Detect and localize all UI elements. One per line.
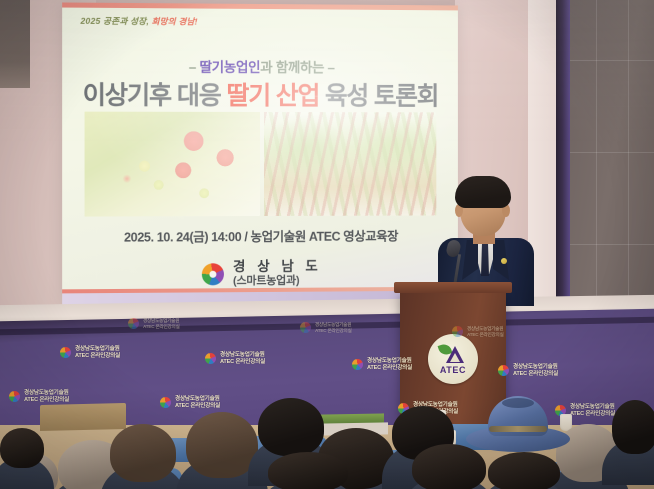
gyeongnam-pinwheel-logo-icon — [60, 347, 71, 358]
side-table-left — [40, 403, 126, 431]
gyeongnam-pinwheel-logo-icon — [300, 322, 311, 333]
audience-head-6 — [258, 398, 324, 456]
banner-logo-text: 경상남도농업기술원ATEC 온라인강의실 — [570, 404, 615, 418]
atec-logo-icon: ATEC — [428, 334, 478, 384]
gyeongnam-pinwheel-logo-icon — [498, 365, 509, 376]
slogan-year: 2025 — [80, 16, 103, 26]
banner-text-line2: ATEC 온라인강의실 — [315, 328, 352, 334]
audience-head-13 — [488, 452, 560, 489]
speaker-lapel-pin — [501, 258, 507, 264]
ceiling-beam — [0, 0, 30, 88]
banner-text-line1: 경상남도농업기술원 — [367, 358, 412, 365]
podium-top-ledge — [394, 282, 512, 293]
gyeongnam-pinwheel-logo-icon — [205, 353, 216, 364]
speaker-hair — [455, 176, 511, 208]
banner-logo-text: 경상남도농업기술원ATEC 온라인강의실 — [315, 322, 352, 333]
banner-logo-9: 경상남도농업기술원ATEC 온라인강의실 — [160, 396, 220, 410]
strawberry-greenhouse-photo — [264, 112, 436, 216]
banner-logo-4: 경상남도농업기술원ATEC 온라인강의실 — [498, 364, 558, 378]
banner-logo-text: 경상남도농업기술원ATEC 온라인강의실 — [143, 318, 180, 329]
speaker-necktie — [481, 244, 489, 276]
banner-text-line2: ATEC 온라인강의실 — [570, 411, 615, 418]
banner-logo-1: 경상남도농업기술원ATEC 온라인강의실 — [60, 346, 120, 360]
banner-text-line2: ATEC 온라인강의실 — [220, 359, 265, 366]
gyeongnam-pinwheel-logo-icon — [452, 326, 463, 337]
gyeongnam-pinwheel-logo-icon — [128, 318, 139, 329]
banner-logo-3: 경상남도농업기술원ATEC 온라인강의실 — [352, 358, 412, 372]
subtitle-highlight: 딸기농업인 — [200, 60, 261, 75]
title-accent: 딸기 산업 — [226, 82, 319, 110]
banner-logo-2: 경상남도농업기술원ATEC 온라인강의실 — [205, 352, 265, 366]
title-part-2: 육성 토론회 — [319, 82, 438, 110]
audience-head-5 — [186, 412, 258, 478]
banner-text-line1: 경상남도농업기술원 — [570, 404, 615, 411]
acoustic-panel-wall — [570, 0, 654, 330]
gyeongnam-pinwheel-logo-icon — [9, 391, 20, 402]
subtitle-dash-right: – — [328, 60, 335, 75]
slide-photo-row — [85, 112, 437, 217]
banner-text-line1: 경상남도농업기술원 — [24, 390, 69, 397]
banner-text-line1: 경상남도농업기술원 — [513, 364, 558, 371]
atec-logo-text: ATEC — [440, 365, 466, 375]
screen-top-border — [62, 2, 458, 10]
banner-text-line1: 경상남도농업기술원 — [75, 346, 120, 353]
slide-subtitle: – 딸기농업인과 함께하는 – — [62, 55, 458, 77]
banner-logo-text: 경상남도농업기술원ATEC 온라인강의실 — [513, 364, 558, 378]
audience-fedora-hat — [466, 396, 570, 452]
slide-slogan: 2025 공존과 성장, 희망의 경남! — [80, 15, 197, 28]
banner-text-line2: ATEC 온라인강의실 — [75, 353, 120, 360]
banner-logo-text: 경상남도농업기술원ATEC 온라인강의실 — [175, 396, 220, 410]
audience-head-3 — [0, 428, 44, 468]
banner-logo-8: 경상남도농업기술원ATEC 온라인강의실 — [9, 390, 69, 404]
banner-logo-text: 경상남도농업기술원ATEC 온라인강의실 — [367, 358, 412, 372]
slide-datetime-venue: 2025. 10. 24(금) 14:00 / 농업기술원 ATEC 영상교육장 — [62, 225, 458, 246]
audience-head-9 — [268, 452, 348, 489]
atec-mark — [439, 344, 467, 364]
banner-text-line1: 경상남도농업기술원 — [143, 318, 180, 324]
subtitle-dash-left: – — [189, 60, 196, 75]
purple-wall-strip — [556, 0, 570, 330]
gyeongnam-pinwheel-logo-icon — [202, 264, 224, 286]
organization-name: 경 상 남 도 — [233, 260, 322, 275]
photo-scene: 2025 공존과 성장, 희망의 경남! – 딸기농업인과 함께하는 – 이상기… — [0, 0, 654, 489]
strawberry-closeup-photo — [85, 112, 260, 217]
banner-text-line2: ATEC 온라인강의실 — [143, 324, 180, 330]
organization-department: (스마트농업과) — [233, 274, 322, 288]
banner-logo-5: 경상남도농업기술원ATEC 온라인강의실 — [128, 318, 180, 329]
hat-band — [489, 426, 547, 432]
title-part-1: 이상기후 대응 — [83, 81, 227, 110]
banner-text-line1: 경상남도농업기술원 — [175, 396, 220, 403]
banner-logo-7: 경상남도농업기술원ATEC 온라인강의실 — [452, 326, 504, 337]
banner-text-line1: 경상남도농업기술원 — [315, 322, 352, 328]
triangle-inner-icon — [450, 353, 460, 362]
slogan-accent: 희망의 경남! — [152, 16, 198, 26]
audience-head-4 — [110, 424, 176, 482]
slide-main-title: 이상기후 대응 딸기 산업 육성 토론회 — [62, 75, 458, 112]
banner-logo-6: 경상남도농업기술원ATEC 온라인강의실 — [300, 322, 352, 333]
gyeongnam-pinwheel-logo-icon — [352, 359, 363, 370]
banner-text-line2: ATEC 온라인강의실 — [175, 403, 220, 410]
subtitle-rest: 과 함께하는 — [260, 60, 324, 75]
hat-dent — [502, 398, 534, 408]
banner-text-line2: ATEC 온라인강의실 — [367, 365, 412, 372]
banner-logo-text: 경상남도농업기술원ATEC 온라인강의실 — [24, 390, 69, 404]
audience-head-12 — [612, 400, 654, 454]
banner-text-line2: ATEC 온라인강의실 — [467, 332, 504, 338]
banner-logo-text: 경상남도농업기술원ATEC 온라인강의실 — [467, 326, 504, 337]
banner-logo-text: 경상남도농업기술원ATEC 온라인강의실 — [220, 352, 265, 366]
projection-screen: 2025 공존과 성장, 희망의 경남! – 딸기농업인과 함께하는 – 이상기… — [62, 2, 458, 305]
banner-text-line1: 경상남도농업기술원 — [220, 352, 265, 359]
gyeongnam-pinwheel-logo-icon — [160, 397, 171, 408]
banner-text-line2: ATEC 온라인강의실 — [24, 397, 69, 404]
banner-logo-text: 경상남도농업기술원ATEC 온라인강의실 — [75, 346, 120, 360]
banner-text-line2: ATEC 온라인강의실 — [513, 371, 558, 378]
banner-text-line1: 경상남도농업기술원 — [467, 326, 504, 332]
slogan-main: 공존과 성장, — [103, 16, 151, 26]
